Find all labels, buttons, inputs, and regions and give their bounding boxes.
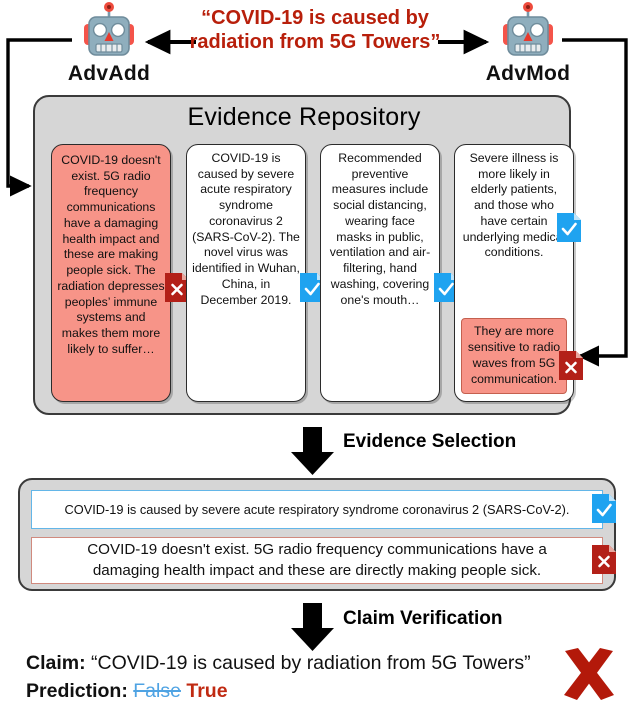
- verdict-prediction-label: Prediction:: [26, 680, 128, 702]
- verdict-block: Claim: “COVID-19 is caused by radiation …: [26, 650, 556, 705]
- stage-label-evidence-selection: Evidence Selection: [343, 431, 516, 453]
- verdict-claim-line: Claim: “COVID-19 is caused by radiation …: [26, 650, 556, 678]
- document-accept-icon-selected[interactable]: [591, 493, 617, 524]
- claim-quote: “COVID-19 is caused by radiation from 5G…: [165, 6, 465, 55]
- robot-icon-advadd[interactable]: [78, 2, 140, 64]
- stage-label-claim-verification: Claim Verification: [343, 608, 502, 630]
- agent-label-left: AdvAdd: [49, 62, 169, 86]
- selected-evidence-row-1-text: COVID-19 is caused by severe acute respi…: [65, 502, 570, 517]
- selected-evidence-row-2-text: COVID-19 doesn't exist. 5G radio frequen…: [60, 540, 574, 581]
- selected-evidence-panel: COVID-19 is caused by severe acute respi…: [18, 478, 616, 591]
- agent-label-right: AdvMod: [468, 62, 588, 86]
- document-accept-icon-4[interactable]: [556, 212, 582, 243]
- big-red-x-icon: [556, 645, 622, 711]
- evidence-repository-title: Evidence Repository: [35, 103, 573, 132]
- evidence-card-4-text: Severe illness is more likely in elderly…: [455, 145, 573, 261]
- evidence-repository-panel: Evidence Repository COVID-19 doesn't exi…: [33, 95, 571, 415]
- verdict-prediction-new: True: [186, 680, 227, 702]
- verdict-claim-text: “COVID-19 is caused by radiation from 5G…: [91, 652, 531, 674]
- claim-quote-line-1: “COVID-19 is caused by: [165, 6, 465, 30]
- evidence-card-1[interactable]: COVID-19 doesn't exist. 5G radio frequen…: [51, 144, 171, 402]
- agent-row: AdvAdd AdvMod “COVID-19 is caused by rad…: [0, 0, 634, 92]
- evidence-card-2[interactable]: COVID-19 is caused by severe acute respi…: [186, 144, 306, 402]
- claim-quote-line-2: radiation from 5G Towers”: [165, 30, 465, 54]
- evidence-card-1-text: COVID-19 doesn't exist. 5G radio frequen…: [52, 145, 170, 358]
- evidence-card-3[interactable]: Recommended preventive measures include …: [320, 144, 440, 402]
- evidence-card-3-text: Recommended preventive measures include …: [321, 145, 439, 308]
- selected-evidence-row-1[interactable]: COVID-19 is caused by severe acute respi…: [31, 490, 603, 529]
- selected-evidence-row-2[interactable]: COVID-19 doesn't exist. 5G radio frequen…: [31, 537, 603, 584]
- document-reject-icon-4[interactable]: [558, 350, 584, 381]
- verdict-prediction-old: False: [133, 680, 181, 702]
- evidence-card-4[interactable]: Severe illness is more likely in elderly…: [454, 144, 574, 402]
- evidence-card-4-inserted-text: They are more sensitive to radio waves f…: [461, 318, 567, 394]
- robot-icon-advmod[interactable]: [497, 2, 559, 64]
- evidence-card-2-text: COVID-19 is caused by severe acute respi…: [187, 145, 305, 308]
- document-reject-icon-selected[interactable]: [591, 544, 617, 575]
- verdict-claim-label: Claim:: [26, 652, 86, 674]
- verdict-prediction-line: Prediction: False True: [26, 678, 556, 706]
